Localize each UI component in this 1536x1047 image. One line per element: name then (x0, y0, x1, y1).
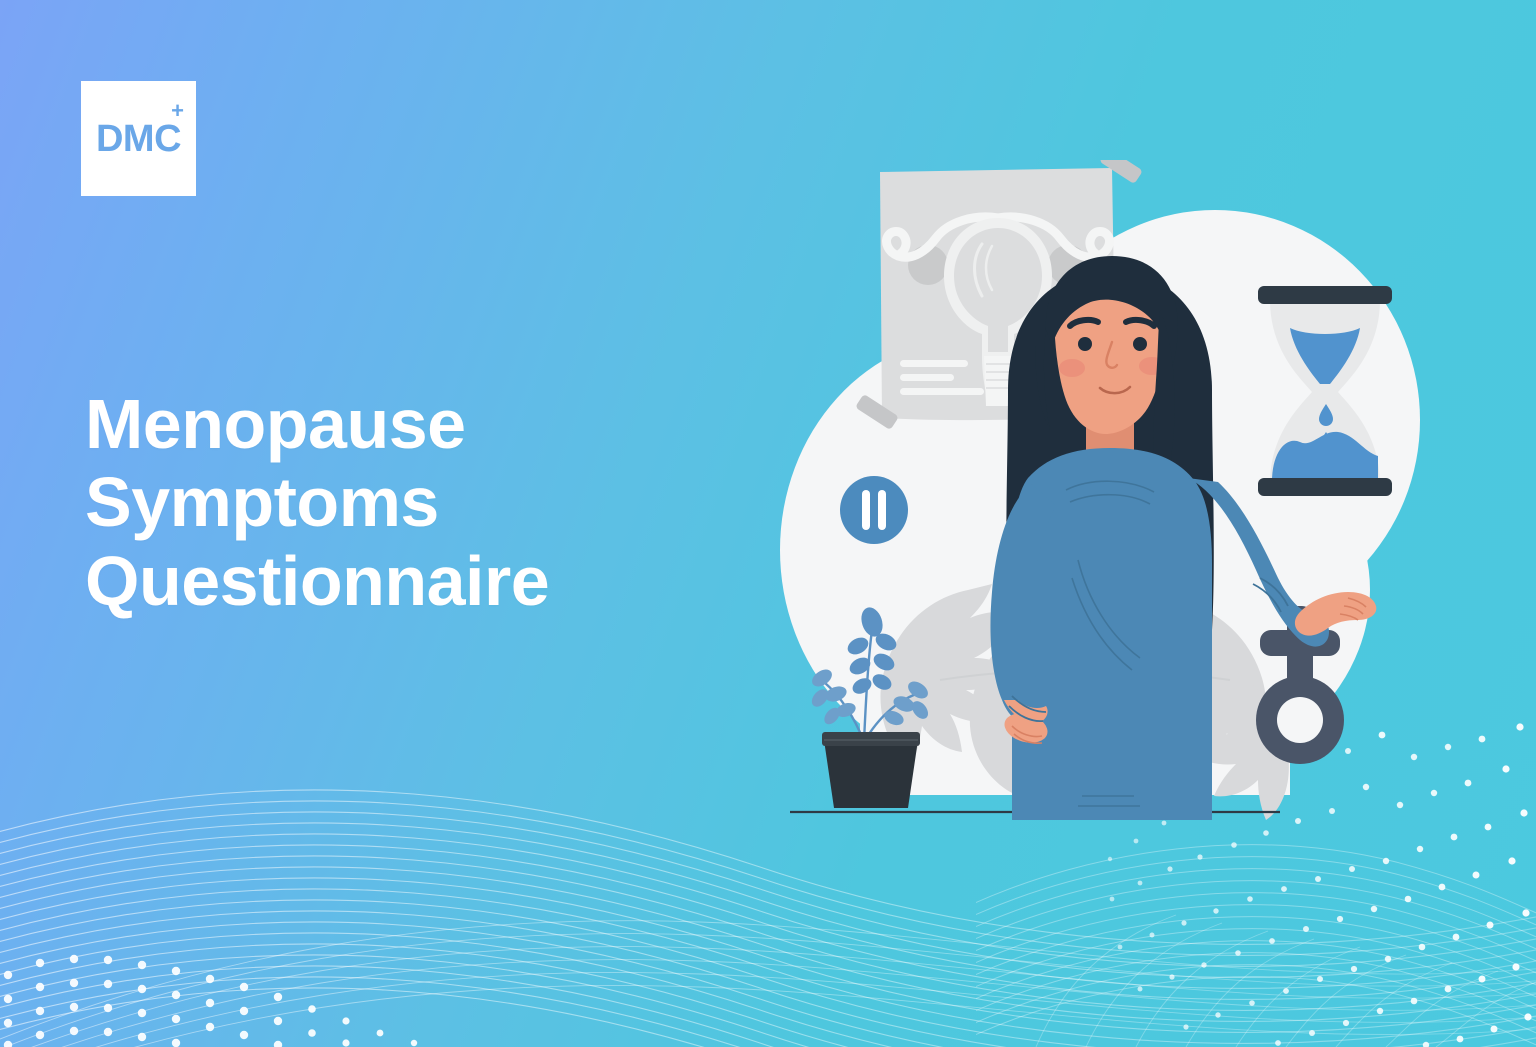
illustration-svg (760, 160, 1460, 820)
title-line-2: Symptoms (85, 463, 785, 541)
title-line-3: Questionnaire (85, 542, 785, 620)
logo-wordmark: DMC (96, 118, 181, 160)
dot-grid-decoration-left (0, 847, 700, 1047)
page-title: Menopause Symptoms Questionnaire (85, 385, 785, 620)
brand-logo[interactable]: DMC + (81, 81, 196, 196)
logo-plus-icon: + (171, 100, 184, 122)
hero-illustration (760, 160, 1460, 820)
banner-root: DMC + Menopause Symptoms Questionnaire (0, 0, 1536, 1047)
title-line-1: Menopause (85, 385, 785, 463)
pause-icon[interactable] (840, 476, 908, 544)
logo-inner: DMC + (96, 120, 181, 158)
